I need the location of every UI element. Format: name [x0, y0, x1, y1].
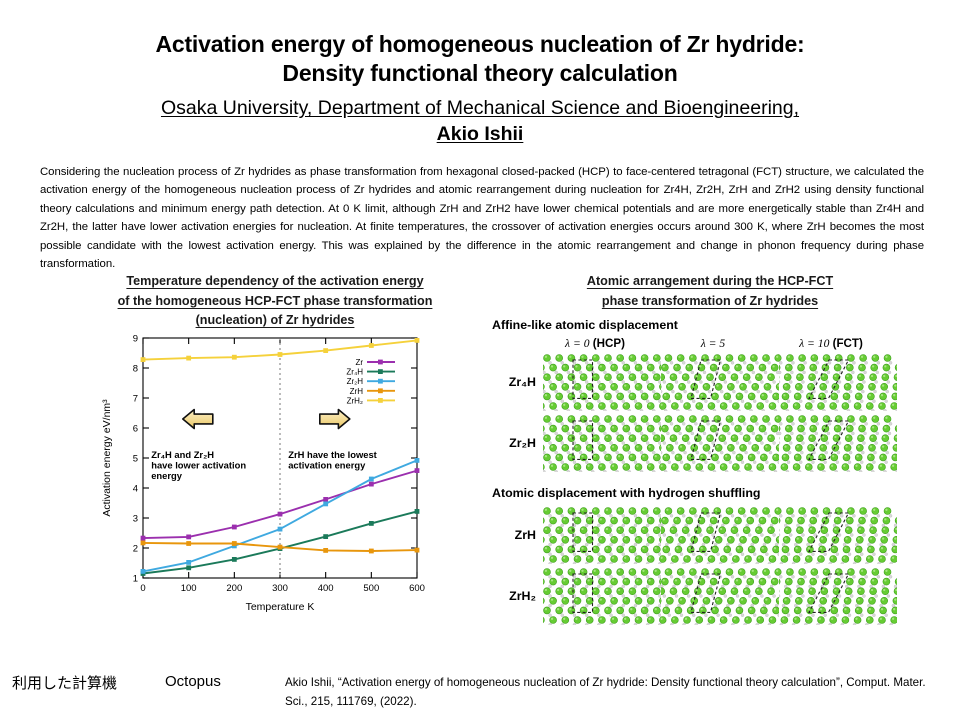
zr-atom	[623, 597, 630, 604]
h-atom	[743, 422, 746, 425]
h-atom	[760, 442, 763, 445]
zr-atom	[883, 425, 890, 432]
zr-atom	[543, 517, 544, 524]
zr-atom	[844, 383, 851, 390]
h-atom	[610, 381, 613, 384]
series-marker-ZrH2	[232, 355, 237, 360]
h-atom	[790, 432, 793, 435]
h-atom	[616, 470, 619, 472]
h-atom	[851, 371, 854, 374]
zr-atom	[635, 597, 642, 604]
zr-atom	[661, 517, 668, 524]
zr-atom	[846, 425, 853, 432]
h-atom	[573, 461, 576, 464]
atom-panel-zrh2-l5	[661, 567, 779, 625]
zr-atom	[894, 435, 897, 442]
zr-atom	[859, 578, 866, 585]
h-atom	[646, 461, 649, 464]
zr-atom	[871, 517, 878, 524]
zr-atom	[623, 517, 630, 524]
h-atom	[699, 381, 702, 384]
h-atom	[579, 470, 582, 472]
h-atom	[874, 451, 877, 454]
zr-atom	[617, 416, 624, 423]
zr-atom	[580, 435, 587, 442]
h-atom	[819, 604, 822, 607]
zr-atom	[745, 464, 752, 471]
zr-atom	[574, 578, 581, 585]
h-atom	[610, 524, 613, 527]
zr-atom	[666, 536, 673, 543]
zr-atom	[785, 364, 792, 371]
zr-atom	[684, 464, 691, 471]
zr-atom	[779, 364, 780, 371]
zr-atom	[784, 374, 791, 381]
zr-atom	[760, 454, 767, 461]
zr-atom	[856, 444, 863, 451]
h-atom	[585, 514, 588, 517]
h-atom	[707, 623, 710, 625]
zr-atom	[724, 607, 731, 614]
zr-atom	[661, 578, 668, 585]
h-atom	[717, 400, 720, 403]
h-atom	[774, 409, 777, 411]
h-atom	[670, 422, 673, 425]
h-atom	[628, 432, 631, 435]
zr-atom	[696, 403, 703, 410]
h-atom	[877, 562, 880, 564]
h-atom	[567, 390, 570, 393]
h-atom	[888, 432, 891, 435]
h-atom	[555, 451, 558, 454]
h-atom	[701, 470, 704, 472]
zr-atom	[871, 364, 878, 371]
h-atom	[811, 461, 814, 464]
h-atom	[634, 614, 637, 617]
zr-atom	[550, 617, 557, 624]
zr-atom	[830, 403, 837, 410]
h-atom	[676, 470, 679, 472]
h-atom	[680, 400, 683, 403]
zr-atom	[872, 355, 879, 362]
series-marker-ZrH2	[278, 352, 283, 357]
h-atom	[871, 470, 874, 472]
zr-atom	[752, 383, 759, 390]
h-atom	[597, 543, 600, 546]
zr-atom	[793, 464, 800, 471]
zr-atom	[550, 364, 557, 371]
h-atom	[646, 614, 649, 617]
zr-atom	[811, 508, 818, 515]
h-atom	[668, 553, 671, 556]
h-atom	[741, 461, 744, 464]
h-atom	[896, 470, 897, 472]
zr-atom	[710, 578, 717, 585]
zr-atom	[832, 383, 839, 390]
zr-atom	[641, 435, 648, 442]
zr-atom	[707, 588, 714, 595]
h-atom	[666, 371, 669, 374]
zr-atom	[891, 464, 897, 471]
zr-atom	[544, 546, 551, 553]
h-atom	[694, 361, 697, 364]
y-tick-label: 2	[133, 544, 138, 555]
zr-atom	[883, 578, 890, 585]
zr-atom	[771, 425, 778, 432]
zr-atom	[763, 569, 770, 576]
zr-atom	[783, 444, 790, 451]
legend-marker-ZrH2	[378, 398, 383, 403]
zr-atom	[682, 527, 689, 534]
zr-atom	[641, 607, 648, 614]
zr-atom	[722, 425, 729, 432]
zr-atom	[724, 393, 731, 400]
series-marker-ZrH2	[186, 356, 191, 361]
zr-atom	[550, 517, 557, 524]
h-atom	[886, 451, 889, 454]
zr-atom	[568, 374, 575, 381]
h-atom	[741, 553, 744, 556]
zr-atom	[845, 527, 852, 534]
zr-atom	[686, 578, 693, 585]
h-atom	[682, 514, 685, 517]
h-atom	[561, 585, 564, 588]
h-atom	[585, 461, 588, 464]
zr-atom	[623, 536, 630, 543]
zr-atom	[738, 416, 745, 423]
h-atom	[679, 432, 682, 435]
zr-atom	[623, 617, 630, 624]
h-atom	[555, 409, 558, 411]
zr-atom	[763, 508, 770, 515]
zr-atom	[543, 597, 544, 604]
zr-atom	[598, 578, 605, 585]
h-atom	[689, 409, 692, 411]
zr-atom	[768, 374, 775, 381]
h-atom	[826, 534, 829, 537]
zr-atom	[720, 464, 727, 471]
zr-atom	[605, 435, 612, 442]
h-atom	[670, 575, 673, 578]
zr-atom	[670, 527, 677, 534]
h-atom	[610, 400, 613, 403]
h-atom	[760, 381, 763, 384]
zr-atom	[822, 425, 829, 432]
zr-atom	[857, 527, 864, 534]
zr-atom	[629, 374, 636, 381]
zr-atom	[748, 546, 755, 553]
zr-atom	[727, 597, 734, 604]
h-atom	[740, 371, 743, 374]
zr-atom	[811, 569, 818, 576]
h-atom	[833, 524, 836, 527]
h-atom	[896, 409, 897, 411]
zr-atom	[847, 416, 854, 423]
h-atom	[720, 451, 723, 454]
h-atom	[634, 524, 637, 527]
zr-atom	[641, 393, 648, 400]
h-atom	[634, 553, 637, 556]
h-atom	[597, 562, 600, 564]
h-atom	[579, 409, 582, 411]
legend-label-ZrH: ZrH	[350, 387, 364, 396]
zr-atom	[675, 393, 682, 400]
h-atom	[824, 614, 827, 617]
h-atom	[826, 442, 829, 445]
zr-atom	[779, 578, 780, 585]
h-atom	[696, 390, 699, 393]
zr-atom	[834, 364, 841, 371]
h-atom	[628, 470, 631, 472]
zr-atom	[779, 425, 780, 432]
zr-atom	[771, 517, 778, 524]
atom-panel-zrh2-l10	[779, 567, 897, 625]
h-atom	[591, 470, 594, 472]
h-atom	[634, 575, 637, 578]
zr-atom	[544, 355, 551, 362]
h-atom	[843, 604, 846, 607]
zr-atom	[679, 383, 686, 390]
zr-atom	[550, 556, 557, 563]
h-atom	[791, 575, 794, 578]
zr-atom	[891, 556, 897, 563]
zr-atom	[562, 617, 569, 624]
h-atom	[661, 451, 662, 454]
zr-atom	[674, 578, 681, 585]
zr-atom	[857, 374, 864, 381]
h-atom	[860, 461, 863, 464]
h-atom	[603, 451, 606, 454]
zr-atom	[611, 597, 618, 604]
zr-atom	[859, 364, 866, 371]
zr-atom	[592, 435, 599, 442]
zr-atom	[586, 403, 593, 410]
zr-atom	[760, 546, 767, 553]
h-atom	[704, 461, 707, 464]
atom-panel-zrh-l5	[661, 506, 779, 564]
h-atom	[756, 562, 759, 564]
h-atom	[789, 442, 792, 445]
h-atom	[622, 575, 625, 578]
atom-panel-zr2h-l5	[661, 414, 779, 472]
zr-atom	[805, 403, 812, 410]
h-atom	[884, 470, 887, 472]
zr-atom	[629, 435, 636, 442]
zr-atom	[750, 416, 757, 423]
zr-atom	[598, 556, 605, 563]
h-atom	[616, 432, 619, 435]
affiliation-block: Osaka University, Department of Mechanic…	[0, 95, 960, 148]
h-atom	[809, 585, 812, 588]
h-atom	[848, 614, 851, 617]
zr-atom	[592, 454, 599, 461]
h-atom	[646, 575, 649, 578]
h-atom	[748, 381, 751, 384]
series-marker-Zr2H	[415, 458, 420, 463]
x-tick-label: 300	[272, 583, 288, 594]
h-atom	[810, 409, 813, 411]
h-atom	[870, 524, 873, 527]
zr-atom	[550, 383, 557, 390]
h-atom	[708, 390, 711, 393]
zr-atom	[854, 556, 861, 563]
h-atom	[829, 623, 832, 625]
zr-atom	[750, 569, 757, 576]
zr-atom	[779, 416, 781, 423]
h-atom	[573, 400, 576, 403]
h-atom	[803, 371, 806, 374]
zr-atom	[605, 355, 612, 362]
zr-atom	[727, 444, 734, 451]
zr-atom	[641, 527, 648, 534]
h-atom	[628, 390, 631, 393]
zr-atom	[562, 556, 569, 563]
zr-atom	[834, 578, 841, 585]
h-atom	[861, 390, 864, 393]
zr-atom	[779, 508, 781, 515]
zr-atom	[550, 597, 557, 604]
zr-atom	[635, 556, 642, 563]
h-atom	[865, 623, 868, 625]
zr-atom	[647, 464, 654, 471]
h-atom	[719, 562, 722, 564]
h-atom	[760, 534, 763, 537]
h-atom	[634, 422, 637, 425]
zr-atom	[760, 607, 767, 614]
h-atom	[573, 553, 576, 556]
h-atom	[646, 553, 649, 556]
zr-atom	[871, 578, 878, 585]
h-atom	[561, 575, 564, 578]
h-atom	[585, 623, 588, 625]
zr-atom	[712, 546, 719, 553]
zr-atom	[592, 416, 599, 423]
h-atom	[549, 534, 552, 537]
zr-atom	[798, 578, 805, 585]
h-atom	[713, 409, 716, 411]
h-atom	[872, 553, 875, 556]
atom-panel-zr4h-l10	[779, 353, 897, 411]
zr-atom	[550, 425, 557, 432]
zr-atom	[617, 607, 624, 614]
h-atom	[887, 534, 890, 537]
x-tick-label: 600	[409, 583, 425, 594]
h-atom	[816, 361, 819, 364]
h-atom	[652, 470, 655, 472]
h-atom	[757, 451, 760, 454]
h-atom	[646, 534, 649, 537]
h-atom	[835, 409, 838, 411]
h-atom	[815, 371, 818, 374]
zr-atom	[653, 454, 660, 461]
h-atom	[634, 562, 637, 564]
h-atom	[784, 585, 787, 588]
h-atom	[561, 381, 564, 384]
zr-atom	[805, 464, 812, 471]
zr-atom	[743, 527, 750, 534]
zr-atom	[855, 607, 862, 614]
h-atom	[848, 553, 851, 556]
h-atom	[670, 514, 673, 517]
zr-atom	[727, 536, 734, 543]
h-atom	[684, 390, 687, 393]
zr-atom	[617, 508, 624, 515]
zr-atom	[731, 374, 738, 381]
zr-atom	[740, 536, 747, 543]
zr-atom	[892, 546, 897, 553]
zr-atom	[641, 569, 648, 576]
h-atom	[814, 381, 817, 384]
zr-atom	[884, 416, 891, 423]
zr-atom	[562, 597, 569, 604]
zr-atom	[759, 425, 766, 432]
h-atom	[610, 575, 613, 578]
zr-atom	[782, 454, 789, 461]
h-atom	[860, 400, 863, 403]
h-atom	[597, 575, 600, 578]
h-atom	[652, 432, 655, 435]
h-atom	[823, 470, 826, 472]
zr-atom	[617, 569, 624, 576]
zr-atom	[842, 403, 849, 410]
zr-atom	[757, 464, 764, 471]
zr-atom	[671, 464, 678, 471]
atom-panel-zrh-l0	[543, 506, 661, 564]
zr-atom	[880, 546, 887, 553]
zr-atom	[586, 464, 593, 471]
zr-atom	[689, 416, 696, 423]
zr-atom	[670, 588, 677, 595]
h-atom	[862, 595, 865, 598]
zr-atom	[726, 416, 733, 423]
zr-atom	[810, 578, 817, 585]
zr-atom	[543, 425, 544, 432]
zr-atom	[617, 588, 624, 595]
h-atom	[841, 623, 844, 625]
zr-atom	[736, 393, 743, 400]
zr-atom	[782, 607, 789, 614]
h-atom	[561, 553, 564, 556]
zr-atom	[677, 569, 684, 576]
h-atom	[692, 400, 695, 403]
h-atom	[634, 514, 637, 517]
x-axis-label: Temperature K	[246, 601, 315, 613]
zr-atom	[834, 425, 841, 432]
legend-label-Zr4H: Zr₄H	[346, 368, 363, 377]
h-atom	[597, 400, 600, 403]
series-marker-Zr2H	[369, 477, 374, 482]
title-line-2: Density functional theory calculation	[0, 59, 960, 88]
h-atom	[543, 470, 545, 472]
zr-atom	[623, 556, 630, 563]
h-atom	[792, 623, 795, 625]
zr-atom	[893, 383, 897, 390]
zr-atom	[623, 425, 630, 432]
h-atom	[549, 442, 552, 445]
zr-atom	[568, 527, 575, 534]
zr-atom	[670, 374, 677, 381]
lambda-expr-1: λ = 5	[701, 337, 725, 350]
zr-atom	[592, 569, 599, 576]
zr-atom	[647, 444, 654, 451]
h-atom	[824, 461, 827, 464]
zr-atom	[817, 403, 824, 410]
h-atom	[743, 575, 746, 578]
zr-atom	[760, 393, 767, 400]
series-marker-Zr4H	[369, 521, 374, 526]
zr-atom	[682, 435, 689, 442]
zr-atom	[556, 546, 563, 553]
